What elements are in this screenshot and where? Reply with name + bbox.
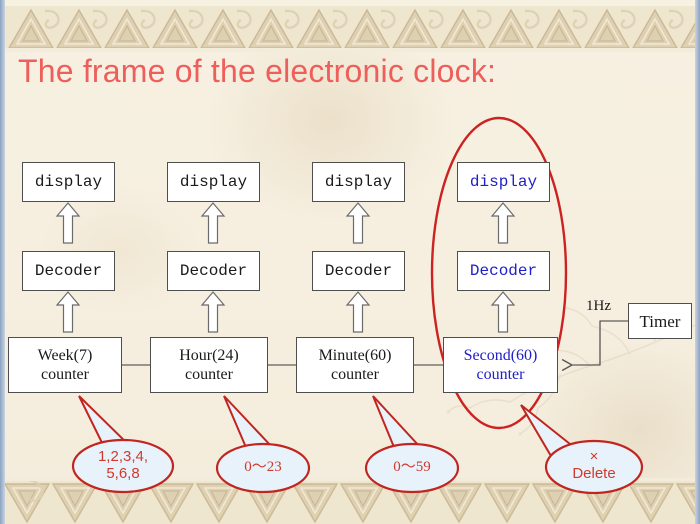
display-box-second[interactable]: display <box>457 162 550 202</box>
page-edge-left <box>0 0 5 524</box>
decoder-box-week[interactable]: Decoder <box>22 251 115 291</box>
callout-text-second: × Delete <box>544 448 644 482</box>
counter-label-minute-line1: Minute(60) <box>319 347 392 364</box>
counter-box-minute[interactable]: Minute(60) counter <box>296 337 414 393</box>
counter-label-second-line2: counter <box>477 366 525 383</box>
delete-cross-icon: × <box>590 448 599 465</box>
arrow-decoder-to-display-minute <box>347 203 369 243</box>
decorative-border-top <box>5 6 695 52</box>
counter-label-hour-line2: counter <box>185 366 233 383</box>
counter-label-minute-line2: counter <box>331 366 379 383</box>
callout-text-hour: 0～23 <box>213 459 313 476</box>
callout-week-line1: 1,2,3,4, <box>98 448 148 465</box>
arrow-counter-to-decoder-minute <box>347 292 369 332</box>
counter-box-hour[interactable]: Hour(24) counter <box>150 337 268 393</box>
counter-label-second-line1: Second(60) <box>464 347 538 364</box>
arrow-counter-to-decoder-second <box>492 292 514 332</box>
decoder-label-second: Decoder <box>470 262 537 280</box>
counter-label-hour-line1: Hour(24) <box>179 347 239 364</box>
counter-box-second[interactable]: Second(60) counter <box>443 337 558 393</box>
display-label-hour: display <box>180 173 247 191</box>
display-box-week[interactable]: display <box>22 162 115 202</box>
frequency-label: 1Hz <box>586 298 611 315</box>
slide-canvas: The frame of the electronic clock: <box>0 0 700 524</box>
decoder-box-hour[interactable]: Decoder <box>167 251 260 291</box>
counter-label-week-line2: counter <box>41 366 89 383</box>
arrow-decoder-to-display-week <box>57 203 79 243</box>
display-box-hour[interactable]: display <box>167 162 260 202</box>
decoder-label-minute: Decoder <box>325 262 392 280</box>
timer-connector <box>572 321 628 365</box>
display-label-second: display <box>470 173 537 191</box>
display-label-minute: display <box>325 173 392 191</box>
counter-label-week-line1: Week(7) <box>38 347 93 364</box>
callout-text-week: 1,2,3,4, 5,6,8 <box>73 448 173 482</box>
arrow-counter-to-decoder-hour <box>202 292 224 332</box>
counter-box-week[interactable]: Week(7) counter <box>8 337 122 393</box>
display-label-week: display <box>35 173 102 191</box>
callout-minute-line1: 0～59 <box>393 459 431 475</box>
decoder-box-minute[interactable]: Decoder <box>312 251 405 291</box>
timer-box[interactable]: Timer <box>628 303 692 339</box>
arrow-decoder-to-display-hour <box>202 203 224 243</box>
arrow-decoder-to-display-second <box>492 203 514 243</box>
timer-label: Timer <box>640 312 681 331</box>
decoder-label-hour: Decoder <box>180 262 247 280</box>
page-title: The frame of the electronic clock: <box>18 52 678 90</box>
callout-text-minute: 0～59 <box>362 459 462 476</box>
decoder-label-week: Decoder <box>35 262 102 280</box>
decoder-box-second[interactable]: Decoder <box>457 251 550 291</box>
page-edge-right <box>695 0 700 524</box>
display-box-minute[interactable]: display <box>312 162 405 202</box>
arrow-counter-to-decoder-week <box>57 292 79 332</box>
callout-hour-line1: 0～23 <box>244 459 282 475</box>
decorative-border-bottom <box>5 478 695 524</box>
